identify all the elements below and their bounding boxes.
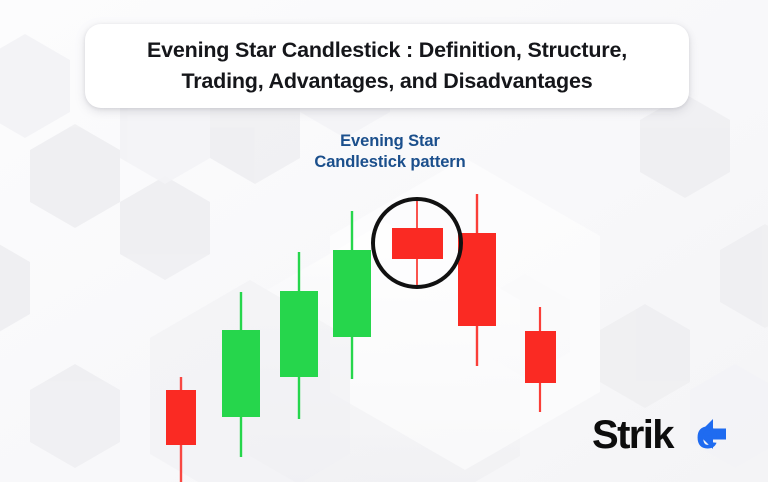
candle-4-body [333, 250, 371, 337]
candle-1-bearish [166, 377, 196, 482]
candle-2-body [222, 330, 260, 417]
candle-1-body [166, 390, 196, 445]
candle-2-bullish [222, 292, 260, 457]
candle-5-body [392, 228, 443, 259]
title-card: Evening Star Candlestick : Definition, S… [85, 24, 689, 108]
page-title: Evening Star Candlestick : Definition, S… [129, 35, 645, 96]
pattern-annotation-label: Evening Star Candlestick pattern [268, 131, 512, 173]
infographic-canvas: Evening Star Candlestick pattern Evening… [0, 0, 768, 482]
candle-3-bullish [280, 252, 318, 419]
strike-logo[interactable]: Strik e [592, 408, 732, 462]
candle-6-body [458, 233, 496, 326]
candle-6-bearish [458, 194, 496, 366]
candle-3-body [280, 291, 318, 377]
candle-5-star-bearish [392, 199, 443, 287]
candle-4-bullish [333, 211, 371, 379]
annotation-line-2: Candlestick pattern [268, 152, 512, 173]
logo-wordmark-blue: e [696, 413, 717, 457]
candle-7-bearish [525, 307, 556, 412]
logo-wordmark-black: Strik [592, 413, 675, 457]
candle-7-body [525, 331, 556, 383]
annotation-line-1: Evening Star [268, 131, 512, 152]
